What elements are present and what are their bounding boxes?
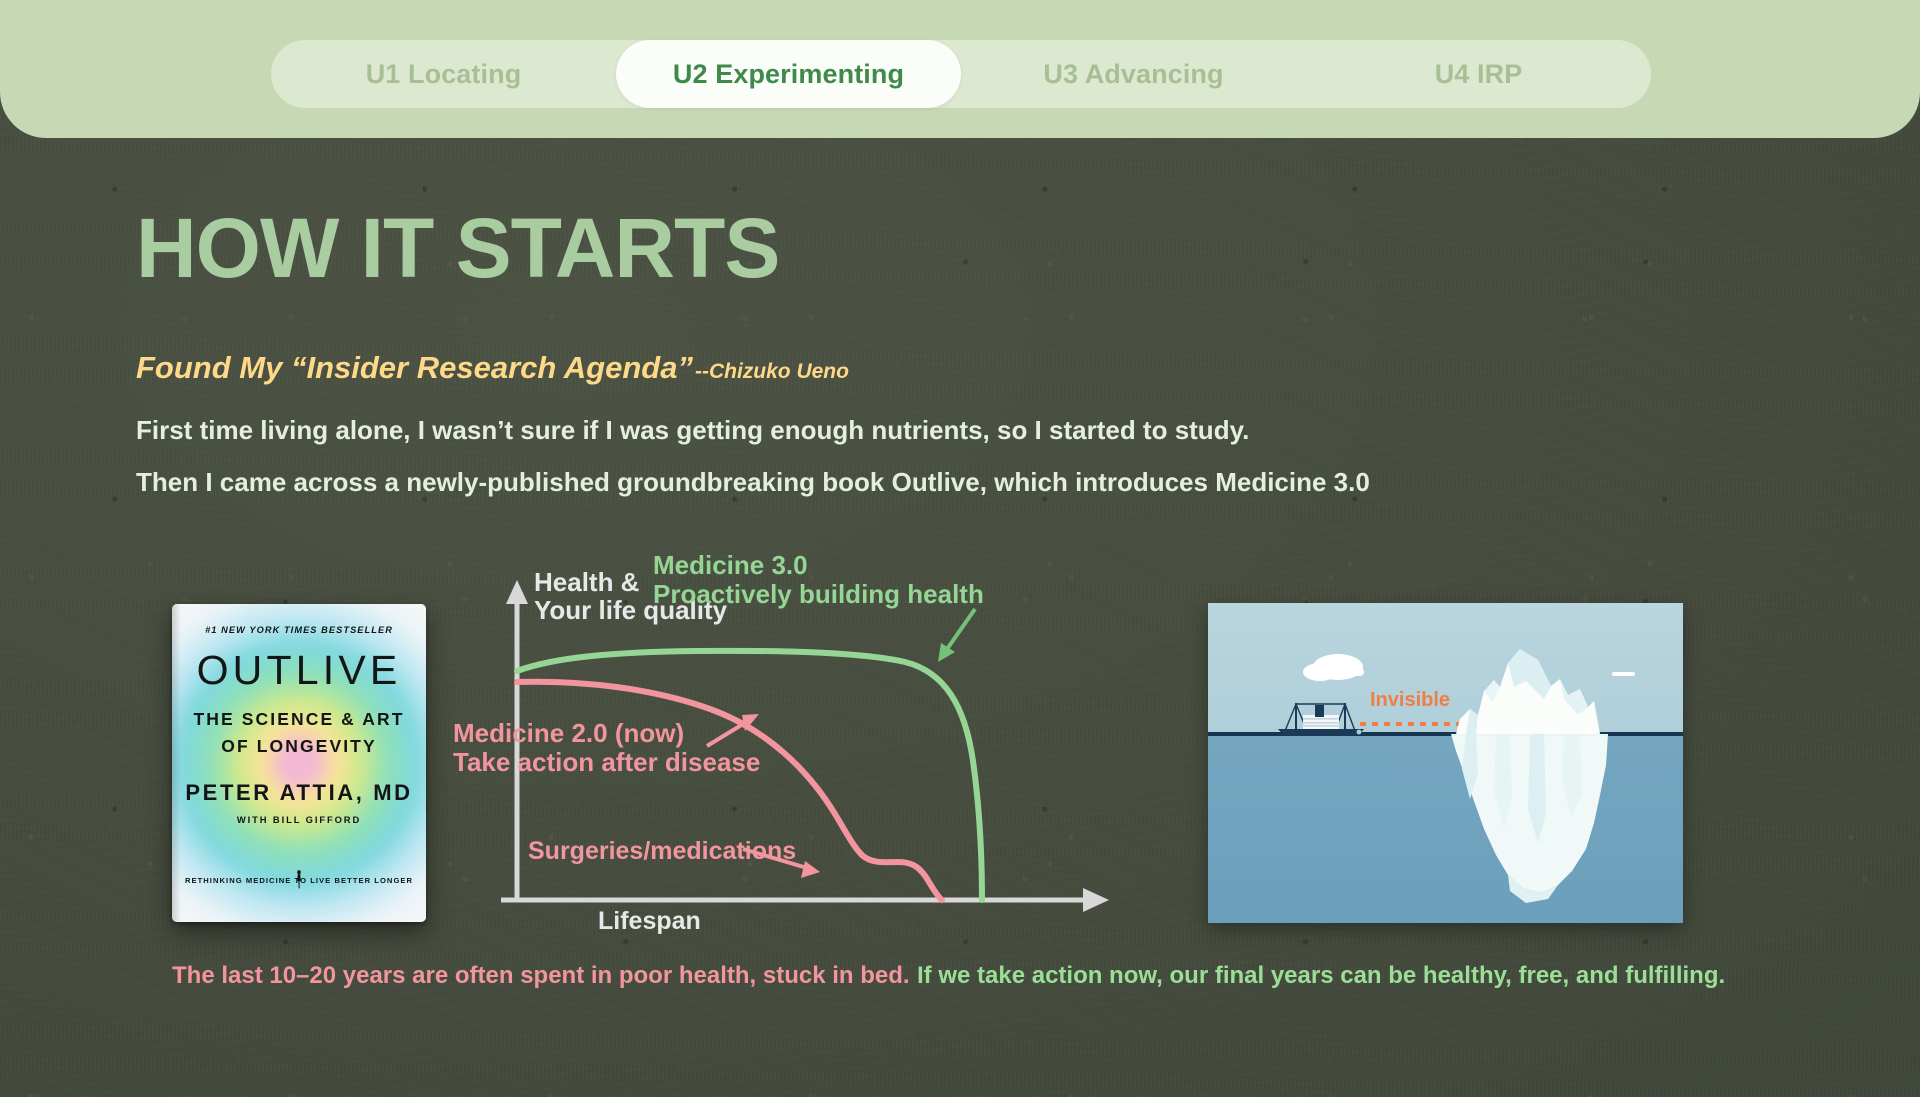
book-subtitle-line-2: OF LONGEVITY bbox=[172, 736, 426, 757]
subtitle-row: Found My “Insider Research Agenda” --Chi… bbox=[136, 350, 849, 386]
iceberg-illustration: Invisible bbox=[1208, 603, 1683, 923]
outlive-book-cover: #1 NEW YORK TIMES BESTSELLER OUTLIVE THE… bbox=[172, 604, 426, 922]
iceberg-svg: Invisible bbox=[1208, 603, 1683, 923]
caption-left: The last 10–20 years are often spent in … bbox=[172, 962, 910, 990]
medicine-2-title: Medicine 2.0 (now) bbox=[453, 719, 760, 748]
chart-annotation-medicine-2: Medicine 2.0 (now) Take action after dis… bbox=[453, 719, 760, 778]
chart-x-axis-label: Lifespan bbox=[598, 907, 701, 936]
unit-tab-group: U1 Locating U2 Experimenting U3 Advancin… bbox=[271, 40, 1651, 108]
medicine-curve-chart: Health & Your life quality Lifespan Medi… bbox=[495, 556, 1125, 936]
walking-person-icon bbox=[296, 870, 303, 889]
tab-u4-irp[interactable]: U4 IRP bbox=[1306, 40, 1651, 108]
page-title: HOW IT STARTS bbox=[136, 206, 779, 290]
medicine-2-desc: Take action after disease bbox=[453, 748, 760, 777]
sky bbox=[1208, 603, 1683, 734]
tab-u1-locating[interactable]: U1 Locating bbox=[271, 40, 616, 108]
chart-annotation-medicine-3: Medicine 3.0 Proactively building health bbox=[653, 551, 984, 609]
top-navigation-bar: U1 Locating U2 Experimenting U3 Advancin… bbox=[0, 0, 1920, 138]
tab-u4-label: U4 IRP bbox=[1435, 59, 1523, 90]
x-axis bbox=[501, 888, 1109, 912]
tab-u1-label: U1 Locating bbox=[366, 59, 522, 90]
sea bbox=[1208, 734, 1683, 923]
invisible-label: Invisible bbox=[1370, 689, 1450, 711]
tab-u2-experimenting[interactable]: U2 Experimenting bbox=[616, 40, 961, 108]
body-line-2: Then I came across a newly-published gro… bbox=[136, 467, 1370, 498]
book-subtitle-line-1: THE SCIENCE & ART bbox=[172, 709, 426, 730]
series-medicine-2-curve bbox=[517, 682, 942, 900]
cloud-icon-small bbox=[1612, 672, 1635, 676]
subtitle-quote: Found My “Insider Research Agenda” bbox=[136, 350, 693, 386]
tab-u2-label: U2 Experimenting bbox=[673, 59, 904, 90]
book-cover-figure: #1 NEW YORK TIMES BESTSELLER OUTLIVE THE… bbox=[172, 604, 426, 922]
medicine-3-desc: Proactively building health bbox=[653, 580, 984, 609]
book-title: OUTLIVE bbox=[172, 647, 426, 694]
tab-u3-label: U3 Advancing bbox=[1043, 59, 1223, 90]
tab-u3-advancing[interactable]: U3 Advancing bbox=[961, 40, 1306, 108]
chart-annotation-surgeries: Surgeries/medications bbox=[528, 837, 796, 866]
book-author: PETER ATTIA, MD bbox=[172, 780, 426, 806]
body-line-1: First time living alone, I wasn’t sure i… bbox=[136, 415, 1249, 446]
subtitle-attribution: --Chizuko Ueno bbox=[695, 360, 849, 384]
medicine-3-title: Medicine 3.0 bbox=[653, 551, 984, 580]
caption-right: If we take action now, our final years c… bbox=[917, 962, 1725, 990]
medicine-3-annotation-arrow bbox=[938, 609, 975, 662]
book-coauthor: WITH BILL GIFFORD bbox=[172, 814, 426, 825]
book-bestseller-line: #1 NEW YORK TIMES BESTSELLER bbox=[172, 625, 426, 635]
